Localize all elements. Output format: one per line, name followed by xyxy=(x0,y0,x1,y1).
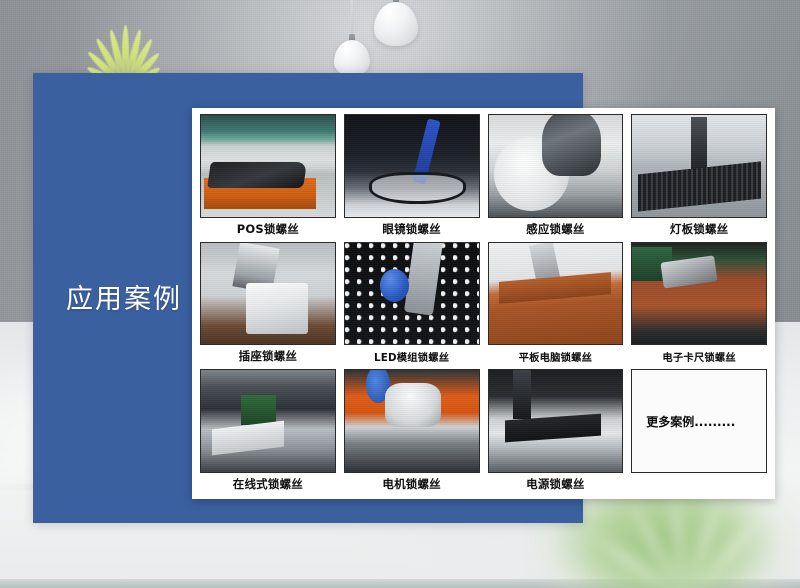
page-title: 应用案例 xyxy=(66,277,182,316)
case-item[interactable]: 电源锁螺丝 xyxy=(488,369,624,495)
case-thumbnail[interactable] xyxy=(344,242,480,346)
cases-card: POS锁螺丝 眼镜锁螺丝 感应锁螺丝 xyxy=(192,108,775,499)
case-thumbnail[interactable] xyxy=(488,242,624,346)
pendant-lamp-right xyxy=(370,0,422,62)
case-item[interactable]: 感应锁螺丝 xyxy=(488,114,624,240)
case-item[interactable]: 电机锁螺丝 xyxy=(344,369,480,495)
case-caption: 感应锁螺丝 xyxy=(488,218,624,240)
case-photo xyxy=(345,115,479,217)
case-photo xyxy=(201,370,335,472)
case-thumbnail[interactable] xyxy=(344,369,480,473)
case-thumbnail[interactable] xyxy=(200,114,336,218)
case-caption: POS锁螺丝 xyxy=(200,218,336,240)
more-cases-label: 更多案例......... xyxy=(632,413,735,430)
cases-grid: POS锁螺丝 眼镜锁螺丝 感应锁螺丝 xyxy=(200,114,767,495)
case-photo xyxy=(632,115,766,217)
more-cases-caption-spacer xyxy=(631,473,767,495)
case-caption: 插座锁螺丝 xyxy=(200,345,336,367)
case-item[interactable]: 灯板锁螺丝 xyxy=(631,114,767,240)
case-item[interactable]: 平板电脑锁螺丝 xyxy=(488,242,624,368)
case-item[interactable]: 电子卡尺锁螺丝 xyxy=(631,242,767,368)
case-caption: 电机锁螺丝 xyxy=(344,473,480,495)
case-photo xyxy=(489,243,623,345)
case-thumbnail[interactable] xyxy=(488,114,624,218)
case-item[interactable]: LED模组锁螺丝 xyxy=(344,242,480,368)
case-photo xyxy=(201,243,335,345)
case-item[interactable]: 插座锁螺丝 xyxy=(200,242,336,368)
case-item[interactable]: 眼镜锁螺丝 xyxy=(344,114,480,240)
case-caption: 在线式锁螺丝 xyxy=(200,473,336,495)
case-thumbnail[interactable] xyxy=(200,369,336,473)
case-thumbnail[interactable] xyxy=(200,242,336,346)
case-photo xyxy=(345,243,479,345)
case-item[interactable]: POS锁螺丝 xyxy=(200,114,336,240)
lamp-cord xyxy=(351,0,353,38)
case-caption: 眼镜锁螺丝 xyxy=(344,218,480,240)
case-photo xyxy=(489,370,623,472)
case-thumbnail[interactable] xyxy=(488,369,624,473)
case-photo xyxy=(489,115,623,217)
case-photo xyxy=(345,370,479,472)
pendant-lamp-left xyxy=(330,0,374,78)
case-caption: 平板电脑锁螺丝 xyxy=(488,345,624,367)
case-thumbnail[interactable] xyxy=(631,242,767,346)
lamp-shade xyxy=(374,2,418,46)
more-cases-box[interactable]: 更多案例......... xyxy=(631,369,767,473)
slide-scene: 应用案例 POS锁螺丝 眼镜锁螺丝 xyxy=(0,0,800,588)
lamp-shade xyxy=(334,40,370,76)
case-caption: 电源锁螺丝 xyxy=(488,473,624,495)
case-caption: 灯板锁螺丝 xyxy=(631,218,767,240)
case-caption: LED模组锁螺丝 xyxy=(344,345,480,367)
case-photo xyxy=(201,115,335,217)
case-caption: 电子卡尺锁螺丝 xyxy=(631,345,767,367)
case-item[interactable]: 在线式锁螺丝 xyxy=(200,369,336,495)
case-photo xyxy=(632,243,766,345)
case-thumbnail[interactable] xyxy=(631,114,767,218)
more-cases-item[interactable]: 更多案例......... xyxy=(631,369,767,495)
case-thumbnail[interactable] xyxy=(344,114,480,218)
